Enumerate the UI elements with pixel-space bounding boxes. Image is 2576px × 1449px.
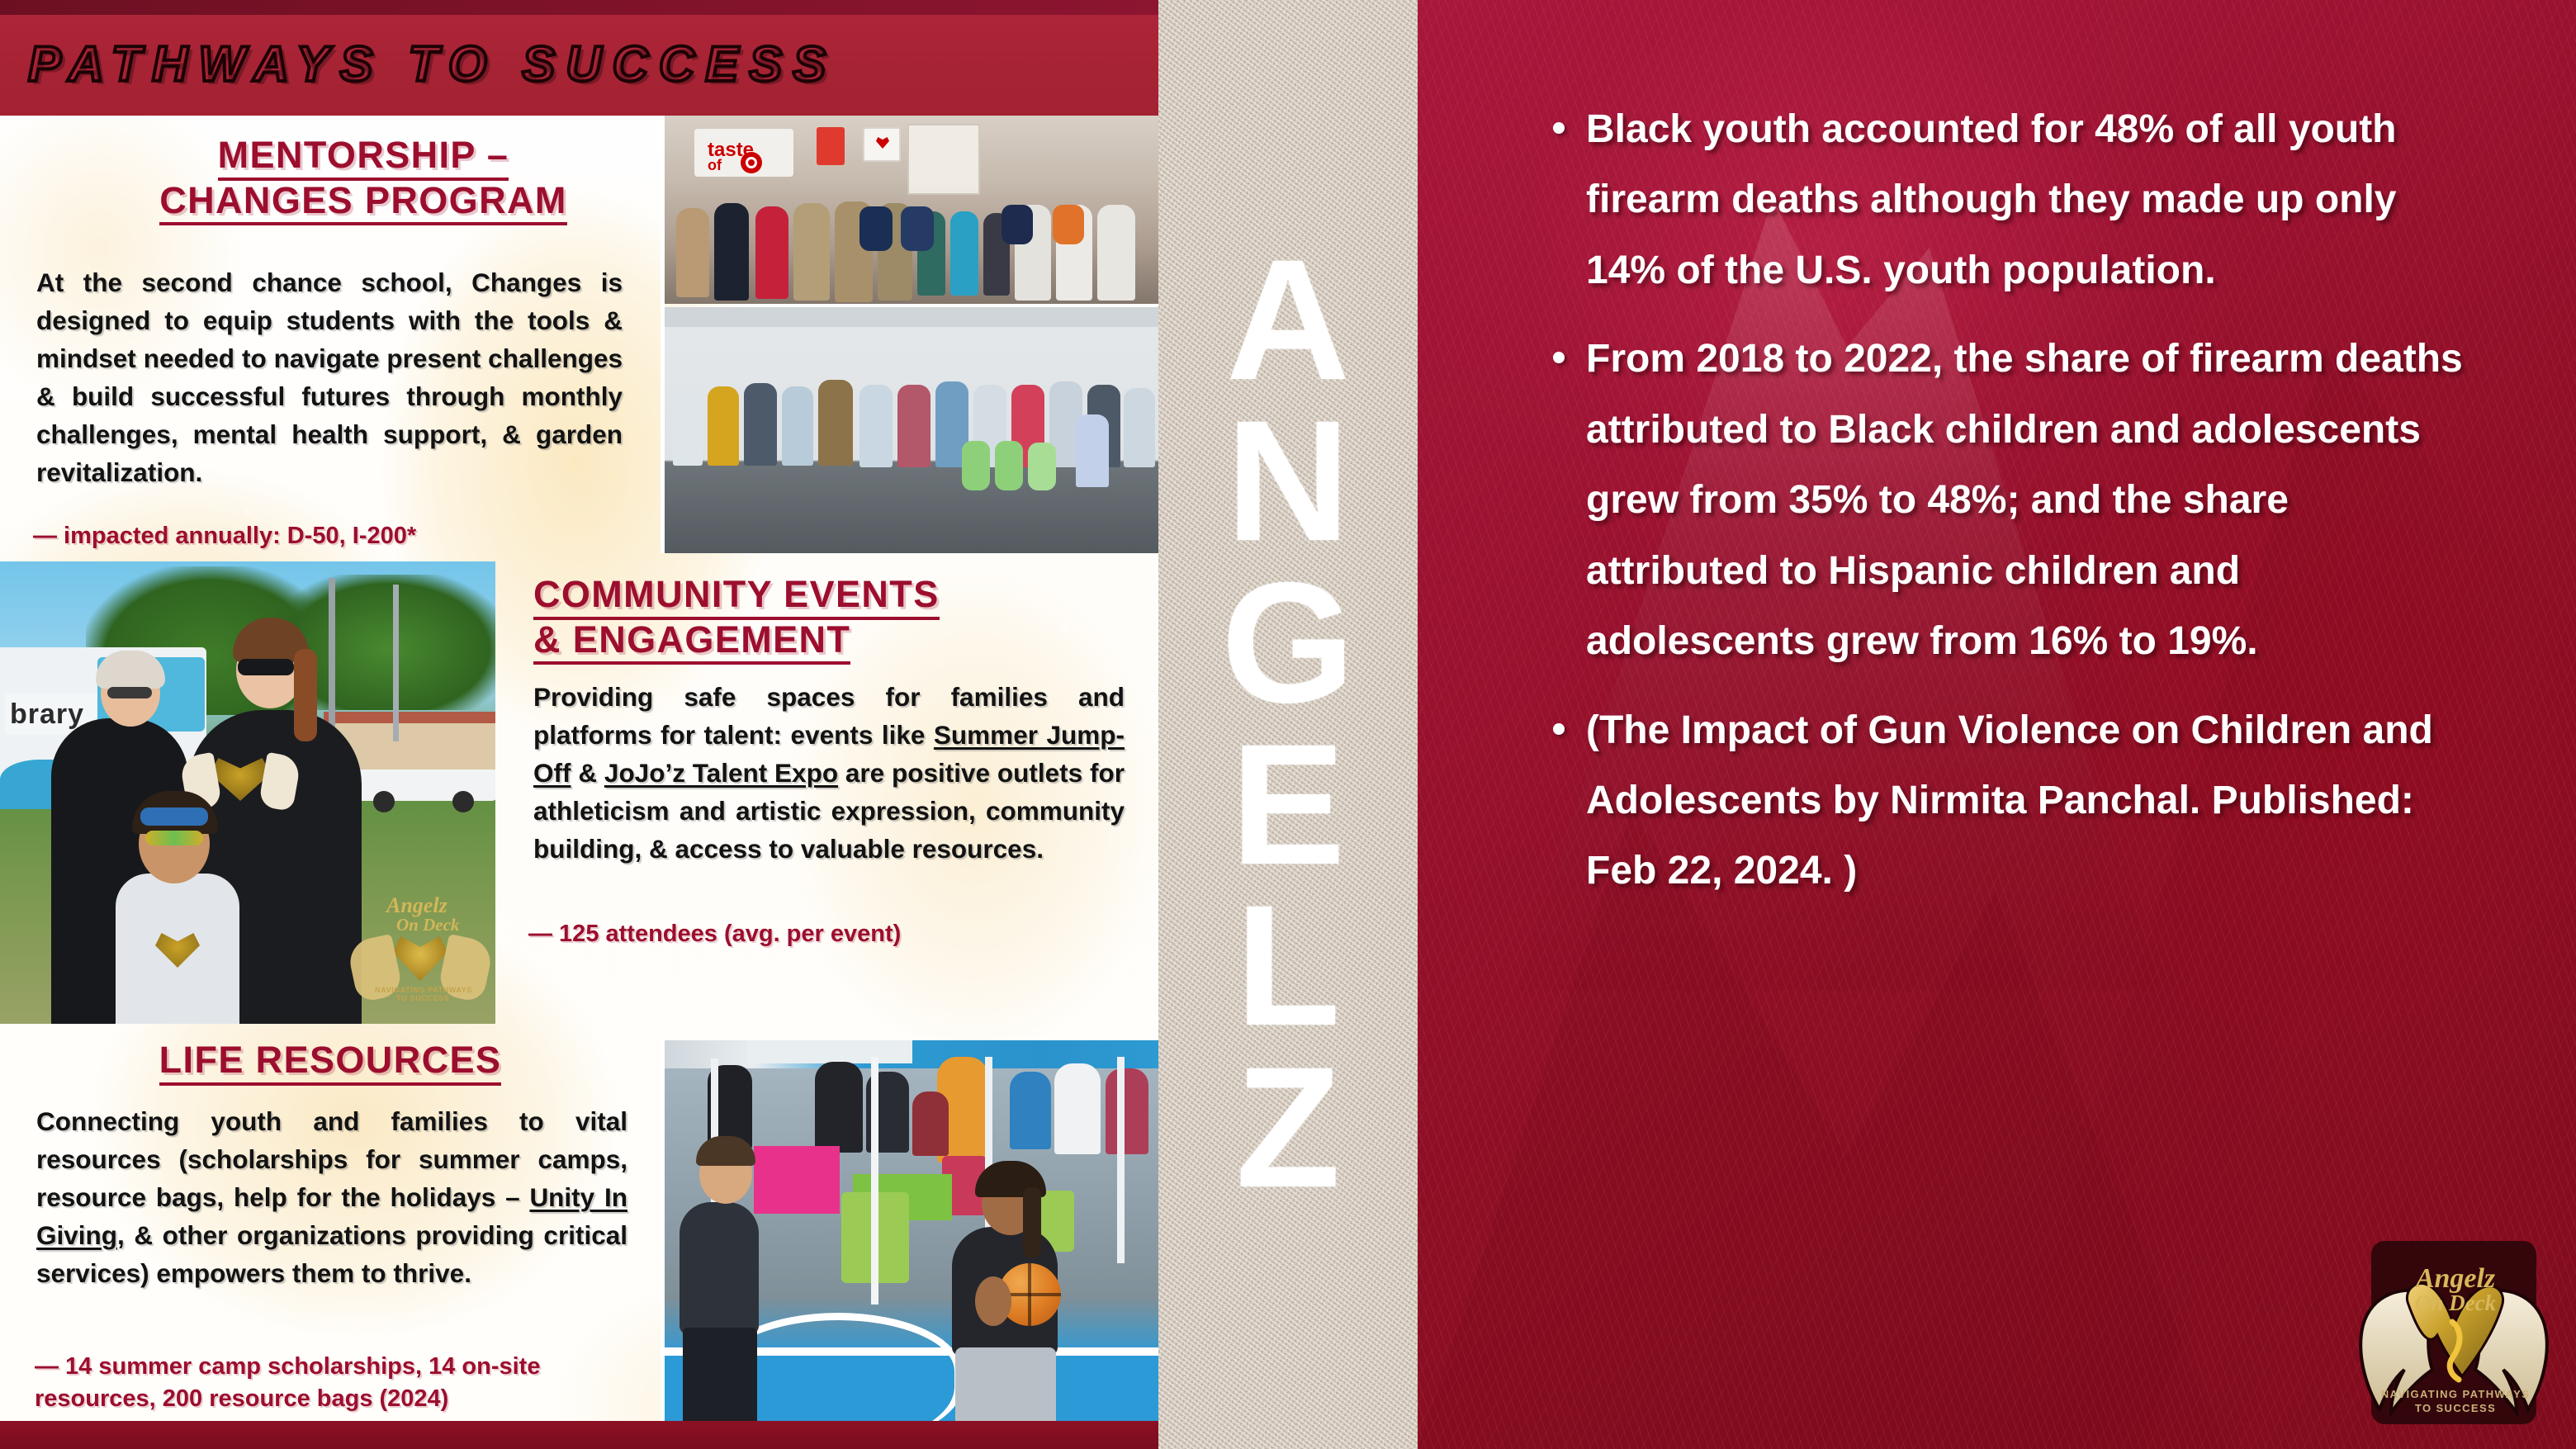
photo-group-gym bbox=[665, 307, 1158, 553]
statistics-panel: Black youth accounted for 48% of all you… bbox=[1418, 0, 2576, 1449]
angelz-on-deck-logo: Angelz On Deck NAVIGATING PATHWAYS TO SU… bbox=[2346, 1223, 2561, 1446]
brand-letters-column: A N G E L Z bbox=[1158, 0, 1418, 1449]
life-resources-heading-line1: LIFE RESOURCES bbox=[159, 1040, 502, 1086]
mentorship-photo-stack: taste of bbox=[661, 116, 1158, 553]
statistic-bullet-1: Black youth accounted for 48% of all you… bbox=[1548, 94, 2465, 305]
mentorship-stat: — impacted annually: D-50, I-200* bbox=[33, 520, 644, 552]
life-resources-body-text: Connecting youth and families to vital r… bbox=[36, 1103, 627, 1293]
community-heading-line1: COMMUNITY EVENTS bbox=[533, 575, 940, 620]
life-resources-stat: — 14 summer camp scholarships, 14 on-sit… bbox=[35, 1351, 634, 1414]
section-heading-community-events: COMMUNITY EVENTS & ENGAGEMENT bbox=[533, 575, 1144, 665]
vertical-brand-letters: A N G E L Z bbox=[1158, 0, 1418, 1449]
title-banner: PATHWAYS TO SUCCESS bbox=[0, 15, 1158, 116]
left-content-column: PATHWAYS TO SUCCESS MENTORSHIP – CHANGES… bbox=[0, 0, 1158, 1449]
statistic-bullet-2: From 2018 to 2022, the share of firearm … bbox=[1548, 324, 2465, 676]
section-heading-life-resources: LIFE RESOURCES bbox=[25, 1040, 636, 1086]
section-heading-mentorship: MENTORSHIP – CHANGES PROGRAM bbox=[91, 135, 636, 225]
top-accent-strip bbox=[0, 0, 1158, 15]
statistic-bullet-3: (The Impact of Gun Violence on Children … bbox=[1548, 695, 2465, 907]
photo-community-event: brary bbox=[0, 561, 495, 1024]
left-body-area: MENTORSHIP – CHANGES PROGRAM At the seco… bbox=[0, 116, 1158, 1404]
brand-letter-l: L bbox=[1235, 886, 1340, 1048]
community-body-part2: & bbox=[571, 758, 604, 788]
community-link-jojoz-talent-expo[interactable]: JoJo’z Talent Expo bbox=[604, 758, 838, 788]
photo-group-indoor: taste of bbox=[665, 116, 1158, 304]
brand-letter-n: N bbox=[1226, 401, 1350, 563]
brand-letter-g: G bbox=[1221, 563, 1355, 725]
slide-root: PATHWAYS TO SUCCESS MENTORSHIP – CHANGES… bbox=[0, 0, 2576, 1449]
brand-letter-a: A bbox=[1226, 240, 1350, 402]
life-body-part2: , & other organizations providing critic… bbox=[36, 1220, 627, 1288]
bottom-accent-bar bbox=[0, 1421, 1158, 1449]
community-stat: — 125 attendees (avg. per event) bbox=[528, 918, 1139, 950]
brand-letter-z: Z bbox=[1235, 1048, 1340, 1210]
mentorship-body-text: At the second chance school, Changes is … bbox=[36, 264, 623, 492]
svg-text:On Deck: On Deck bbox=[2415, 1290, 2497, 1315]
photo-basketball-event bbox=[661, 1040, 1158, 1449]
mentorship-heading-line1: MENTORSHIP – bbox=[218, 135, 509, 181]
svg-text:Angelz: Angelz bbox=[2414, 1263, 2496, 1294]
brand-letter-e: E bbox=[1231, 725, 1346, 887]
community-body-text: Providing safe spaces for families and p… bbox=[533, 679, 1125, 869]
community-heading-line2: & ENGAGEMENT bbox=[533, 620, 850, 665]
svg-text:TO SUCCESS: TO SUCCESS bbox=[2415, 1402, 2496, 1414]
page-title: PATHWAYS TO SUCCESS bbox=[28, 36, 836, 92]
svg-text:NAVIGATING PATHWAYS: NAVIGATING PATHWAYS bbox=[2381, 1388, 2530, 1400]
statistics-bullet-list: Black youth accounted for 48% of all you… bbox=[1515, 94, 2465, 925]
mentorship-heading-line2: CHANGES PROGRAM bbox=[159, 181, 567, 226]
